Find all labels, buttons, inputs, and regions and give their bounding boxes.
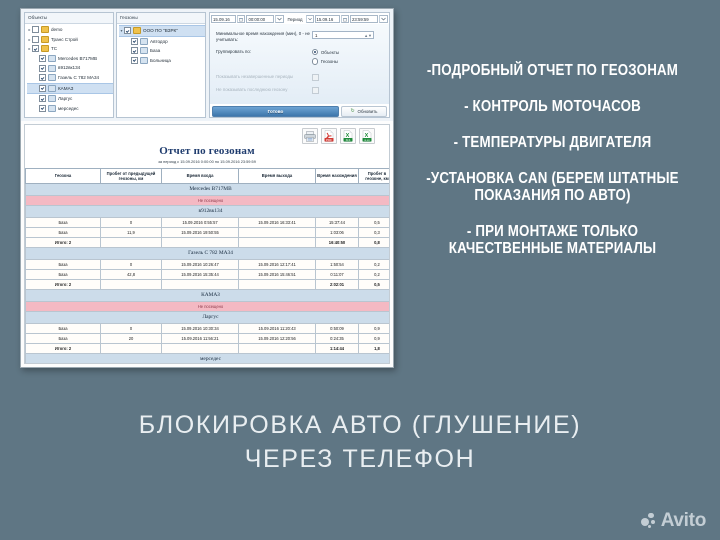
tree-item-label: в912вк134 xyxy=(58,63,80,73)
avito-watermark: Avito xyxy=(641,510,706,532)
report-view: PDF X XLS X XLSX xyxy=(24,124,390,364)
hide-last-zone-checkbox xyxy=(312,87,319,94)
table-row: База015.09.2016 10:30:3415.09.2016 11:20… xyxy=(26,323,391,333)
table-cell: 0,2 xyxy=(359,269,391,279)
group-total-row: Итого: 21:14:441,8 xyxy=(26,343,391,353)
show-unfinished-row: Показывать незавершенные периоды xyxy=(216,74,383,81)
tree-item-label: мерседес xyxy=(58,104,79,114)
time-from-input[interactable]: 00:00:00 xyxy=(246,15,274,23)
radio-selected-icon xyxy=(312,49,318,55)
caption-line-2: ЧЕРЕЗ ТЕЛЕФОН xyxy=(60,442,660,476)
vehicle-icon xyxy=(48,55,56,62)
objects-tree-item[interactable]: мерседес xyxy=(27,104,113,114)
objects-tree-item[interactable]: ▸ТС xyxy=(27,44,113,54)
table-cell: 15.09.2016 16:33:41 xyxy=(239,217,316,227)
radio-geozones-label: Геозоны xyxy=(321,59,338,64)
table-cell: 15:37:44 xyxy=(316,217,359,227)
time-to-input[interactable]: 23:59:59 xyxy=(350,15,378,23)
table-cell: мерседес xyxy=(26,353,391,364)
promo-line: - ПРИ МОНТАЖЕ ТОЛЬКО КАЧЕСТВЕННЫЕ МАТЕРИ… xyxy=(421,223,683,257)
table-cell: 0:11:07 xyxy=(316,269,359,279)
pdf-export-icon[interactable]: PDF xyxy=(321,128,337,144)
group-header-row: Mercedes B717MB xyxy=(26,183,391,195)
avito-dots-logo-icon xyxy=(641,513,658,530)
table-cell: 0,8 xyxy=(359,237,391,247)
checkbox-icon[interactable] xyxy=(39,95,46,102)
geozone-icon xyxy=(140,47,148,54)
show-unfinished-label: Показывать незавершенные периоды xyxy=(216,74,312,80)
column-header: Время нахождения xyxy=(316,168,359,183)
show-unfinished-checkbox xyxy=(312,74,319,81)
group-by-row: Группировать по: Объекты Геозоны xyxy=(216,49,383,68)
table-cell: 0 xyxy=(101,259,162,269)
column-header: Время выхода xyxy=(239,168,316,183)
table-cell: Ларгус xyxy=(26,311,391,323)
calendar-icon-to[interactable] xyxy=(341,15,349,23)
excel-xls-export-icon[interactable]: X XLS xyxy=(340,128,356,144)
radio-group-geozones[interactable]: Геозоны xyxy=(312,58,339,64)
radio-group-objects[interactable]: Объекты xyxy=(312,49,339,55)
table-cell: 0,2 xyxy=(359,259,391,269)
table-cell: Не посещено xyxy=(26,195,391,205)
table-cell: База xyxy=(26,323,101,333)
table-row: База11,915.09.2016 19:50:551:03:060,3 xyxy=(26,227,391,237)
build-report-button[interactable]: Готово xyxy=(212,106,339,117)
geozones-tree-item[interactable]: ▾ООО ПО "ВЗРК" xyxy=(119,25,205,37)
bottom-caption: БЛОКИРОВКА АВТО (ГЛУШЕНИЕ) ЧЕРЕЗ ТЕЛЕФОН xyxy=(60,408,660,476)
settings-button-bar: Готово ↻ Обновить xyxy=(210,105,389,117)
geozones-panel: Геозоны ▾ООО ПО "ВЗРК"АвтодорБазаБольниц… xyxy=(116,12,206,118)
folder-icon xyxy=(41,36,49,43)
table-cell: База xyxy=(26,259,101,269)
report-settings-panel: 15.09.16 00:00:00 Период 15.09.16 xyxy=(209,12,390,118)
checkbox-icon[interactable] xyxy=(39,55,46,62)
promo-line: -УСТАНОВКА CAN (БЕРЕМ ШТАТНЫЕ ПОКАЗАНИЯ … xyxy=(421,170,683,204)
group-header-row: в912вк134 xyxy=(26,205,391,217)
date-from-input[interactable]: 15.09.16 xyxy=(211,15,236,23)
table-cell: База xyxy=(26,227,101,237)
objects-tree-item[interactable]: ▸demo xyxy=(27,25,113,35)
tree-item-label: demo xyxy=(51,25,63,35)
objects-tree-item[interactable]: КАМАЗ xyxy=(27,83,113,95)
chevron-down-icon-to[interactable] xyxy=(379,15,388,23)
chevron-down-icon-from[interactable] xyxy=(275,15,284,23)
geozone-icon xyxy=(140,57,148,64)
excel-xlsx-export-icon[interactable]: X XLSX xyxy=(359,128,375,144)
table-cell: 15.09.2016 15:35:44 xyxy=(162,269,239,279)
table-cell: 0,5 xyxy=(359,279,391,289)
table-cell: 0 xyxy=(101,217,162,227)
svg-text:XLSX: XLSX xyxy=(364,140,370,142)
date-from-value: 15.09.16 xyxy=(213,17,230,22)
date-to-input[interactable]: 15.09.16 xyxy=(315,15,340,23)
refresh-button-label: Обновить xyxy=(358,109,378,114)
tree-item-label: Автодор xyxy=(150,37,168,47)
table-cell: КАМАЗ xyxy=(26,289,391,301)
group-header-row: Ларгус xyxy=(26,311,391,323)
tree-item-label: База xyxy=(150,46,160,56)
table-cell: 42,8 xyxy=(101,269,162,279)
table-cell: Итого: 2 xyxy=(26,279,101,289)
table-cell: 15.09.2016 11:20:43 xyxy=(239,323,316,333)
tree-item-label: КАМАЗ xyxy=(58,84,73,94)
group-header-row: КАМАЗ xyxy=(26,289,391,301)
vehicle-icon xyxy=(48,105,56,112)
table-cell: База xyxy=(26,333,101,343)
promo-feature-list: -ПОДРОБНЫЙ ОТЧЕТ ПО ГЕОЗОНАМ- КОНТРОЛЬ М… xyxy=(400,62,705,276)
table-cell: в912вк134 xyxy=(26,205,391,217)
table-body: Mercedes B717MBНе посещенов912вк134База0… xyxy=(26,183,391,364)
table-cell: 0,5 xyxy=(359,217,391,227)
tree-item-label: ООО ПО "ВЗРК" xyxy=(143,26,178,36)
table-cell: 15.09.2016 0:55:57 xyxy=(162,217,239,227)
table-cell: 1:14:44 xyxy=(316,343,359,353)
tree-item-label: Транс Строй xyxy=(51,35,78,45)
report-options-form: Минимальное время нахождения (мин), 0 - … xyxy=(210,24,389,104)
table-cell: 0 xyxy=(101,323,162,333)
checkbox-icon[interactable] xyxy=(39,74,46,81)
checkbox-icon[interactable] xyxy=(32,36,39,43)
table-cell: 15.09.2016 12:17:41 xyxy=(239,259,316,269)
geozones-tree[interactable]: ▾ООО ПО "ВЗРК"АвтодорБазаБольница xyxy=(117,24,205,65)
folder-icon xyxy=(41,26,49,33)
report-subtitle: за период с 15.09.2016 0:00:00 по 15.09.… xyxy=(25,157,389,168)
checkbox-icon[interactable] xyxy=(131,47,138,54)
checkbox-icon[interactable] xyxy=(39,105,46,112)
time-from-value: 00:00:00 xyxy=(248,17,265,22)
caption-line-1: БЛОКИРОВКА АВТО (ГЛУШЕНИЕ) xyxy=(60,408,660,442)
hide-last-zone-label: Не показывать последнюю геозону xyxy=(216,87,312,93)
table-row: База2015.09.2016 11:56:2115.09.2016 12:2… xyxy=(26,333,391,343)
table-cell: 0:50:09 xyxy=(316,323,359,333)
vehicle-icon xyxy=(48,85,56,92)
objects-tree-item[interactable]: Mercedes B717MB xyxy=(27,54,113,64)
table-cell: 16:40:50 xyxy=(316,237,359,247)
svg-text:PDF: PDF xyxy=(326,138,332,142)
table-cell: 1:03:06 xyxy=(316,227,359,237)
vehicle-icon xyxy=(48,65,56,72)
table-cell: 0,3 xyxy=(359,227,391,237)
table-cell: Не посещено xyxy=(26,301,391,311)
column-header: Пробег от предыдущей геозоны, км xyxy=(101,168,162,183)
group-header-row: Газель С 782 МА34 xyxy=(26,247,391,259)
table-cell xyxy=(162,237,239,247)
group-by-label: Группировать по: xyxy=(216,49,312,55)
refresh-button[interactable]: ↻ Обновить xyxy=(341,106,387,117)
table-cell: 15.09.2016 12:20:56 xyxy=(239,333,316,343)
table-cell: 11,9 xyxy=(101,227,162,237)
group-total-row: Итого: 22:02:010,5 xyxy=(26,279,391,289)
table-cell xyxy=(239,343,316,353)
checkbox-icon[interactable] xyxy=(39,65,46,72)
report-config-strip: Объекты ▸demo▸Транс Строй▸ТСMercedes B71… xyxy=(21,9,393,121)
geozone-report-table: ГеозонаПробег от предыдущей геозоны, кмВ… xyxy=(25,168,390,365)
table-cell xyxy=(239,227,316,237)
folder-icon xyxy=(41,45,49,52)
svg-text:XLS: XLS xyxy=(346,139,351,142)
table-cell: 0,9 xyxy=(359,333,391,343)
promo-line: -ПОДРОБНЫЙ ОТЧЕТ ПО ГЕОЗОНАМ xyxy=(421,62,683,79)
geozones-tree-item[interactable]: База xyxy=(119,46,205,56)
group-header-row: мерседес xyxy=(26,353,391,364)
promo-line: - КОНТРОЛЬ МОТОЧАСОВ xyxy=(421,98,683,115)
date-to-value: 15.09.16 xyxy=(317,17,334,22)
table-cell: 15.09.2016 19:50:55 xyxy=(162,227,239,237)
table-cell xyxy=(101,343,162,353)
tree-item-label: Газель С 782 МА34 xyxy=(58,73,99,83)
table-cell xyxy=(239,237,316,247)
table-header-row: ГеозонаПробег от предыдущей геозоны, кмВ… xyxy=(26,168,391,183)
period-label: Период xyxy=(285,17,304,22)
calendar-icon[interactable] xyxy=(237,15,245,23)
objects-tree-item[interactable]: Ларгус xyxy=(27,94,113,104)
min-duration-label: Минимальное время нахождения (мин), 0 - … xyxy=(216,31,312,43)
refresh-icon: ↻ xyxy=(351,109,356,114)
table-cell: Итого: 2 xyxy=(26,237,101,247)
tree-item-label: ТС xyxy=(51,44,57,54)
no-visits-row: Не посещено xyxy=(26,195,391,205)
checkbox-icon[interactable] xyxy=(131,38,138,45)
objects-tree-item[interactable]: Газель С 782 МА34 xyxy=(27,73,113,83)
column-header: Геозона xyxy=(26,168,101,183)
geozones-panel-header: Геозоны xyxy=(117,13,205,24)
group-by-radio-group: Объекты Геозоны xyxy=(312,49,339,68)
objects-panel: Объекты ▸demo▸Транс Строй▸ТСMercedes B71… xyxy=(24,12,114,118)
objects-tree[interactable]: ▸demo▸Транс Строй▸ТСMercedes B717MBв912в… xyxy=(25,24,113,113)
table-cell xyxy=(162,343,239,353)
table-cell: 15.09.2016 10:26:47 xyxy=(162,259,239,269)
radio-empty-icon xyxy=(312,58,318,64)
table-cell: 0,9 xyxy=(359,323,391,333)
column-header: Время входа xyxy=(162,168,239,183)
objects-panel-header: Объекты xyxy=(25,13,113,24)
table-cell: 15.09.2016 10:30:34 xyxy=(162,323,239,333)
table-cell xyxy=(162,279,239,289)
period-dropdown-icon[interactable] xyxy=(306,15,314,23)
table-cell: 1,8 xyxy=(359,343,391,353)
time-to-value: 23:59:59 xyxy=(352,17,369,22)
export-toolbar: PDF X XLS X XLSX xyxy=(302,128,375,144)
table-cell: 15.09.2016 11:56:21 xyxy=(162,333,239,343)
table-cell: 0:24:35 xyxy=(316,333,359,343)
no-visits-row: Не посещено xyxy=(26,301,391,311)
folder-icon xyxy=(133,27,141,34)
printer-icon[interactable] xyxy=(302,128,318,144)
table-cell: База xyxy=(26,217,101,227)
column-header: Пробег в геозоне, км xyxy=(359,168,391,183)
table-row: База015.09.2016 0:55:5715.09.2016 16:33:… xyxy=(26,217,391,227)
objects-tree-item[interactable]: ▸Транс Строй xyxy=(27,35,113,45)
checkbox-icon[interactable] xyxy=(124,27,131,34)
table-cell xyxy=(101,237,162,247)
table-cell: 20 xyxy=(101,333,162,343)
table-cell: Mercedes B717MB xyxy=(26,183,391,195)
objects-tree-item[interactable]: в912вк134 xyxy=(27,63,113,73)
promo-line: - ТЕМПЕРАТУРЫ ДВИГАТЕЛЯ xyxy=(421,134,683,151)
vehicle-icon xyxy=(48,95,56,102)
tree-item-label: Больница xyxy=(150,56,171,66)
checkbox-icon[interactable] xyxy=(39,85,46,92)
hide-last-row: Не показывать последнюю геозону xyxy=(216,87,383,94)
table-cell: Газель С 782 МА34 xyxy=(26,247,391,259)
geozone-icon xyxy=(140,38,148,45)
table-cell: Итого: 2 xyxy=(26,343,101,353)
tree-item-label: Mercedes B717MB xyxy=(58,54,97,64)
checkbox-icon[interactable] xyxy=(32,45,39,52)
date-range-toolbar: 15.09.16 00:00:00 Период 15.09.16 xyxy=(210,13,389,24)
tree-item-label: Ларгус xyxy=(58,94,72,104)
table-cell: База xyxy=(26,269,101,279)
min-duration-value: 1 xyxy=(315,33,317,38)
checkbox-icon[interactable] xyxy=(32,26,39,33)
vehicle-icon xyxy=(48,74,56,81)
table-row: База015.09.2016 10:26:4715.09.2016 12:17… xyxy=(26,259,391,269)
avito-wordmark: Avito xyxy=(661,510,706,532)
radio-objects-label: Объекты xyxy=(321,50,339,55)
table-cell: 1:50:54 xyxy=(316,259,359,269)
gps-tracking-app-window: Объекты ▸demo▸Транс Строй▸ТСMercedes B71… xyxy=(20,8,394,368)
checkbox-icon[interactable] xyxy=(131,57,138,64)
table-cell: 15.09.2016 15:46:51 xyxy=(239,269,316,279)
table-row: База42,815.09.2016 15:35:4415.09.2016 15… xyxy=(26,269,391,279)
table-cell xyxy=(101,279,162,289)
stepper-arrows-icon[interactable]: ▲▼ xyxy=(364,33,373,38)
geozones-tree-item[interactable]: Больница xyxy=(119,56,205,66)
min-duration-stepper[interactable]: 1 ▲▼ xyxy=(312,31,374,39)
group-total-row: Итого: 216:40:500,8 xyxy=(26,237,391,247)
min-duration-row: Минимальное время нахождения (мин), 0 - … xyxy=(216,31,383,43)
geozones-tree-item[interactable]: Автодор xyxy=(119,37,205,47)
table-cell xyxy=(239,279,316,289)
table-cell: 2:02:01 xyxy=(316,279,359,289)
